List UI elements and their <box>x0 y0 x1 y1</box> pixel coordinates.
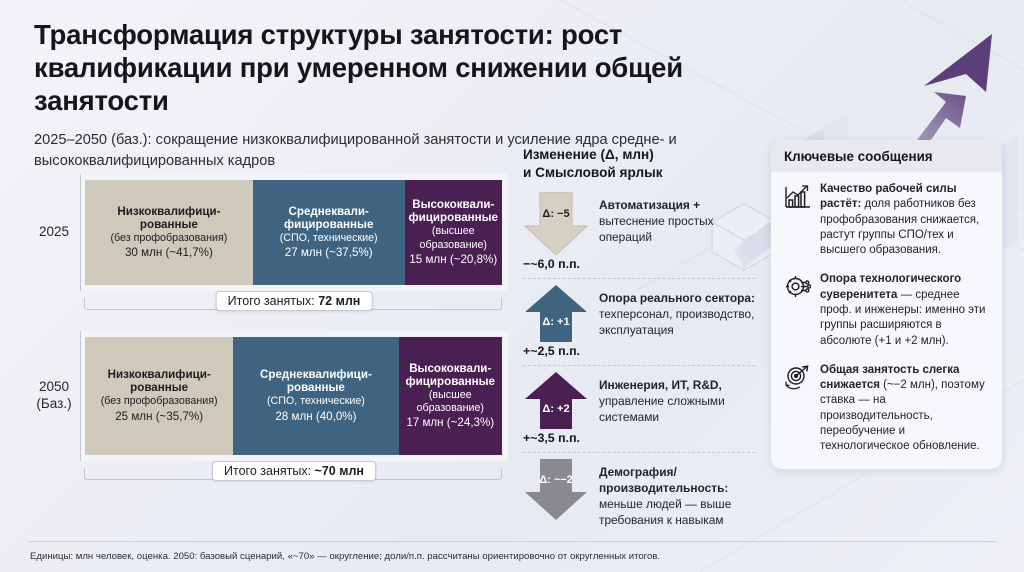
year-label-2025: 2025 <box>28 174 80 291</box>
key-message-sovereignty: Опора технологического суверенитета — ср… <box>784 272 989 348</box>
segment-name-line2: рованные <box>140 218 198 231</box>
delta-text: управление сложными системами <box>599 394 725 424</box>
delta-description: Опора реального сектора: техперсонал, пр… <box>599 285 755 358</box>
segment-sub: (без профобразования) <box>110 232 227 244</box>
bar-segment-low-2050[interactable]: Низкоквалифици- рованные (без профобразо… <box>85 337 233 455</box>
arrow-up-icon <box>523 285 589 343</box>
segment-value: 15 млн (~20,8%) <box>409 253 497 267</box>
arrow-box: Δ: +2 +~3,5 п.п. <box>523 372 589 445</box>
segment-name-line1: Низкоквалифици- <box>117 205 220 218</box>
delta-pp: −~6,0 п.п. <box>523 257 589 271</box>
year-label-2050: 2050 (Баз.) <box>28 331 80 461</box>
total-label: Итого занятых: <box>228 294 315 308</box>
bar-2050: Низкоквалифици- рованные (без профобразо… <box>85 337 502 455</box>
delta-badge: Δ: +1 <box>523 316 589 328</box>
bar-2025: Низкоквалифици- рованные (без профобразо… <box>85 180 502 285</box>
delta-badge: Δ: −5 <box>523 208 589 220</box>
segment-name-line1: Высококвали- <box>412 198 494 211</box>
bar-block-2025: 2025 Низкоквалифици- рованные (без профо… <box>28 174 508 317</box>
delta-title: Опора реального сектора: <box>599 291 755 305</box>
key-message-text: Опора технологического суверенитета — ср… <box>820 272 989 348</box>
panel-heading: Ключевые сообщения <box>771 140 1002 172</box>
segment-name-line2: фицированные <box>284 218 373 231</box>
delta-pp: +~2,5 п.п. <box>523 344 589 358</box>
arrow-down-icon <box>523 459 589 521</box>
year-text: 2050 <box>28 379 80 396</box>
arrow-up-icon <box>523 372 589 430</box>
segment-value: 28 млн (40,0%) <box>275 410 356 424</box>
bar-frame: Низкоквалифици- рованные (без профобразо… <box>80 331 508 461</box>
segment-value: 25 млн (~35,7%) <box>115 410 203 424</box>
total-badge-2050[interactable]: Итого занятых: ~70 млн <box>212 461 376 481</box>
year-scenario: (Баз.) <box>28 396 80 413</box>
bar-segment-high-2050[interactable]: Высококвали- фицированные (высшее образо… <box>399 337 503 455</box>
delta-description: Инженерия, ИТ, R&D, управление сложными … <box>599 372 755 445</box>
segment-sub-line1: (высшее <box>429 389 472 401</box>
bar-segment-mid-2050[interactable]: Среднеквалифици- рованные (СПО, техничес… <box>233 337 398 455</box>
bar-frame: Низкоквалифици- рованные (без профобразо… <box>80 174 508 291</box>
delta-pp: +~3,5 п.п. <box>523 431 589 445</box>
key-message-quality: Качество рабочей силы растёт: доля работ… <box>784 182 989 258</box>
delta-description: Демография/ производительность: меньше л… <box>599 459 755 528</box>
page-title: Трансформация структуры занятости: рост … <box>34 18 734 117</box>
growth-chart-icon <box>784 182 811 258</box>
stacked-bar-chart: 2025 Низкоквалифици- рованные (без профо… <box>28 174 508 495</box>
gear-circuit-icon <box>784 272 811 348</box>
total-wrap-2025: Итого занятых: 72 млн <box>80 291 508 317</box>
segment-name-line1: Низкоквалифици- <box>108 368 211 381</box>
segment-name-line2: фицированные <box>406 375 495 388</box>
segment-sub-line2: образование) <box>420 239 487 251</box>
key-message-employment: Общая занятость слегка снижается (~−2 мл… <box>784 363 989 455</box>
delta-title: Инженерия, ИТ, R&D, <box>599 378 722 392</box>
bar-segment-high-2025[interactable]: Высококвали- фицированные (высшее образо… <box>405 180 502 285</box>
segment-sub-line1: (высшее <box>432 225 475 237</box>
segment-name-line1: Высококвали- <box>409 362 491 375</box>
delta-column: Изменение (Δ, млн) и Смысловой ярлык Δ: … <box>523 146 755 542</box>
delta-text: вытеснение простых операций <box>599 214 714 244</box>
delta-item-real-sector: Δ: +1 +~2,5 п.п. Опора реального сектора… <box>523 285 755 366</box>
key-messages-panel: Ключевые сообщения <box>771 140 1002 469</box>
key-message-text: Качество рабочей силы растёт: доля работ… <box>820 182 989 258</box>
delta-title: Автоматизация + <box>599 198 700 212</box>
total-value: 72 млн <box>318 294 360 308</box>
segment-value: 17 млн (~24,3%) <box>406 416 494 430</box>
segment-name-line2: фицированные <box>409 211 498 224</box>
segment-sub-line2: образование) <box>417 402 484 414</box>
key-message-text: Общая занятость слегка снижается (~−2 мл… <box>820 363 989 455</box>
delta-text: техперсонал, производство, эксплуатация <box>599 307 754 337</box>
total-wrap-2050: Итого занятых: ~70 млн <box>80 461 508 487</box>
segment-sub: (СПО, технические) <box>267 395 365 407</box>
infographic-canvas: Трансформация структуры занятости: рост … <box>0 0 1024 572</box>
total-label: Итого занятых: <box>224 464 311 478</box>
header: Трансформация структуры занятости: рост … <box>34 18 734 171</box>
bar-segment-low-2025[interactable]: Низкоквалифици- рованные (без профобразо… <box>85 180 253 285</box>
page-subtitle: 2025–2050 (баз.): сокращение низкоквалиф… <box>34 130 734 171</box>
delta-item-demography: Δ: ~−2 Демография/ производительность: м… <box>523 459 755 535</box>
segment-name-line2: рованные <box>287 381 345 394</box>
delta-text: меньше людей — выше требования к навыкам <box>599 497 731 527</box>
segment-value: 30 млн (~41,7%) <box>125 246 213 260</box>
arrow-down-icon <box>523 192 589 256</box>
bar-block-2050: 2050 (Баз.) Низкоквалифици- рованные (бе… <box>28 331 508 487</box>
segment-name-line2: рованные <box>130 381 188 394</box>
delta-badge: Δ: +2 <box>523 403 589 415</box>
segment-sub: (без профобразования) <box>101 395 218 407</box>
stage: 2025 Низкоквалифици- рованные (без профо… <box>0 140 1024 572</box>
year-text: 2025 <box>28 224 80 241</box>
bar-segment-mid-2025[interactable]: Среднеквали- фицированные (СПО, техничес… <box>253 180 405 285</box>
arrow-box: Δ: −5 −~6,0 п.п. <box>523 192 589 271</box>
delta-badge: Δ: ~−2 <box>523 474 589 486</box>
total-badge-2025[interactable]: Итого занятых: 72 млн <box>216 291 373 311</box>
delta-title: Демография/ производительность: <box>599 465 728 495</box>
arrow-box: Δ: ~−2 <box>523 459 589 528</box>
delta-description: Автоматизация + вытеснение простых опера… <box>599 192 755 271</box>
delta-item-automation: Δ: −5 −~6,0 п.п. Автоматизация + вытесне… <box>523 192 755 279</box>
arrow-box: Δ: +1 +~2,5 п.п. <box>523 285 589 358</box>
panel-body: Качество рабочей силы растёт: доля работ… <box>771 172 1002 469</box>
delta-item-engineering: Δ: +2 +~3,5 п.п. Инженерия, ИТ, R&D, упр… <box>523 372 755 453</box>
segment-name-line1: Среднеквалифици- <box>260 368 372 381</box>
segment-value: 27 млн (~37,5%) <box>285 246 373 260</box>
segment-sub: (СПО, технические) <box>280 232 378 244</box>
total-value: ~70 млн <box>315 464 364 478</box>
target-arrow-icon <box>784 363 811 455</box>
segment-name-line1: Среднеквали- <box>289 205 369 218</box>
